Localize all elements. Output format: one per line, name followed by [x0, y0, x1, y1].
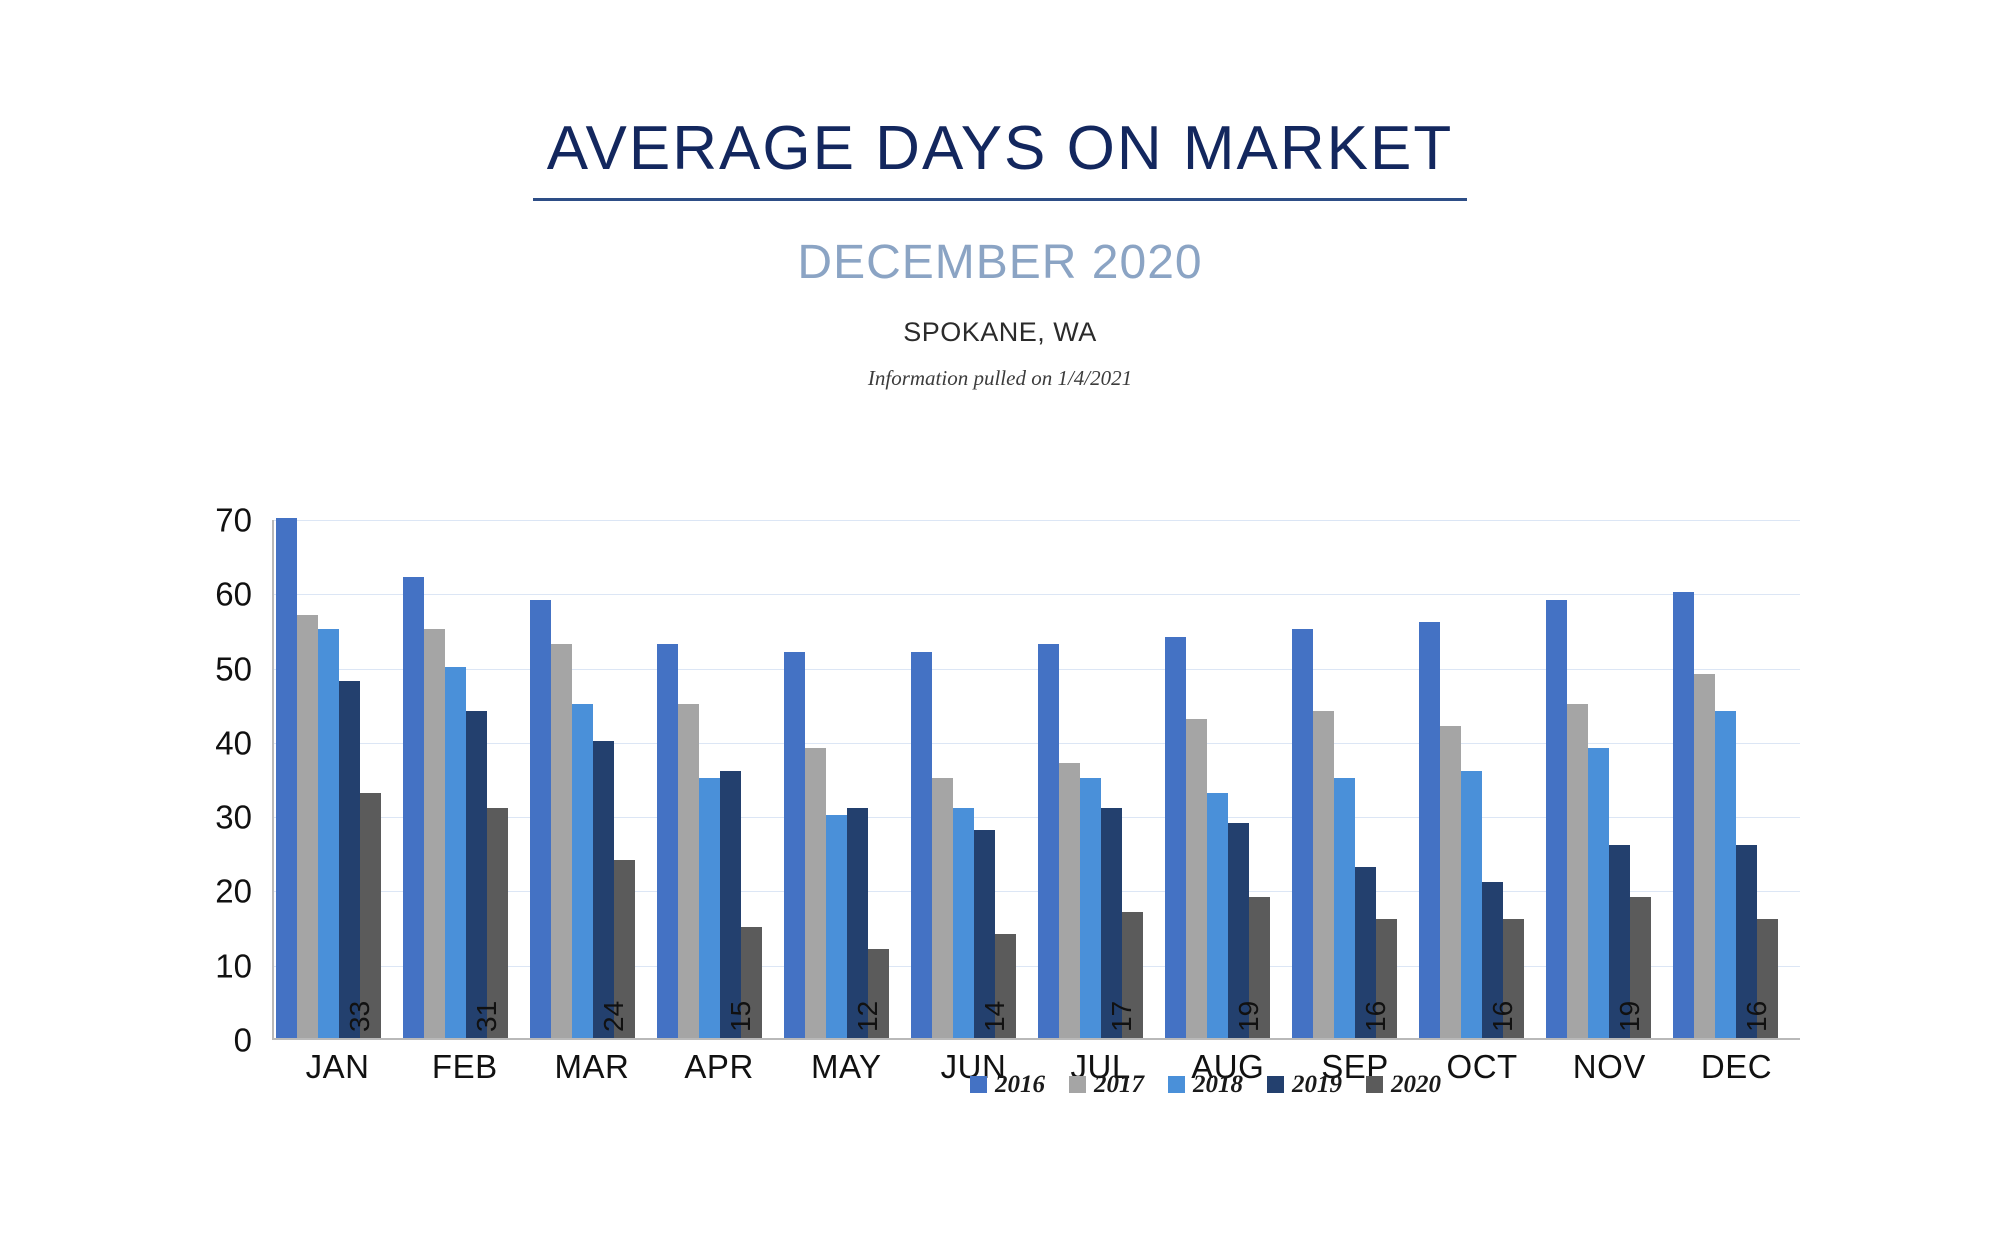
y-axis: 010203040506070	[200, 520, 252, 1040]
bar-value-label: 14	[981, 1001, 1009, 1032]
bar-2017[interactable]	[1694, 674, 1715, 1038]
x-axis-tick-label: DEC	[1673, 1048, 1800, 1086]
bar-value-label: 19	[1235, 1001, 1263, 1032]
bar-value-label: 15	[727, 1001, 755, 1032]
y-axis-tick-label: 30	[215, 801, 252, 834]
legend-swatch-icon	[1267, 1076, 1284, 1093]
bar-2018[interactable]	[1334, 778, 1355, 1038]
bar-2016[interactable]	[530, 600, 551, 1038]
bar-2018[interactable]	[572, 704, 593, 1038]
y-axis-tick-label: 20	[215, 875, 252, 908]
bar-2016[interactable]	[276, 518, 297, 1038]
bar-2020[interactable]: 24	[614, 860, 635, 1038]
bar-2018[interactable]	[699, 778, 720, 1038]
bar-group: 14	[911, 520, 1038, 1038]
y-axis-tick-label: 10	[215, 949, 252, 982]
bar-2017[interactable]	[678, 704, 699, 1038]
bar-2018[interactable]	[1715, 711, 1736, 1038]
bar-value-label: 12	[854, 1001, 882, 1032]
y-axis-tick-label: 0	[234, 1024, 252, 1057]
legend-swatch-icon	[1168, 1076, 1185, 1093]
bar-value-label: 17	[1108, 1001, 1136, 1032]
x-axis-tick-label: APR	[656, 1048, 783, 1086]
location-label: SPOKANE, WA	[0, 319, 2000, 346]
bar-2016[interactable]	[911, 652, 932, 1038]
page-header: AVERAGE DAYS ON MARKET DECEMBER 2020 SPO…	[0, 0, 2000, 389]
bar-2016[interactable]	[1419, 622, 1440, 1038]
legend-item-2020[interactable]: 2020	[1366, 1072, 1441, 1097]
bar-2016[interactable]	[1673, 592, 1694, 1038]
bar-value-label: 16	[1362, 1001, 1390, 1032]
bar-2016[interactable]	[1165, 637, 1186, 1038]
bar-value-label: 19	[1616, 1001, 1644, 1032]
bar-2017[interactable]	[805, 748, 826, 1038]
x-axis-tick-label: FEB	[401, 1048, 528, 1086]
legend-label: 2018	[1193, 1072, 1243, 1097]
bar-2017[interactable]	[932, 778, 953, 1038]
bar-group: 19	[1165, 520, 1292, 1038]
bar-2016[interactable]	[784, 652, 805, 1038]
bar-2017[interactable]	[1440, 726, 1461, 1038]
bar-2019[interactable]	[720, 771, 741, 1038]
bar-groups: 333124151214171916161916	[276, 520, 1800, 1038]
bar-2017[interactable]	[424, 629, 445, 1038]
page-subtitle: DECEMBER 2020	[0, 239, 2000, 287]
bar-value-label: 16	[1489, 1001, 1517, 1032]
chart-legend: 20162017201820192020	[970, 1072, 1441, 1097]
bar-2017[interactable]	[1059, 763, 1080, 1038]
bar-2017[interactable]	[1313, 711, 1334, 1038]
bar-2016[interactable]	[657, 644, 678, 1038]
bar-2018[interactable]	[318, 629, 339, 1038]
bar-value-label: 33	[346, 1001, 374, 1032]
legend-label: 2017	[1094, 1072, 1144, 1097]
bar-2020[interactable]: 17	[1122, 912, 1143, 1038]
bar-2018[interactable]	[1588, 748, 1609, 1038]
bar-2017[interactable]	[551, 644, 572, 1038]
bar-value-label: 16	[1743, 1001, 1771, 1032]
data-pulled-note: Information pulled on 1/4/2021	[0, 368, 2000, 389]
bar-2020[interactable]: 16	[1757, 919, 1778, 1038]
bar-2020[interactable]: 15	[741, 927, 762, 1038]
bar-2018[interactable]	[445, 667, 466, 1038]
bar-group: 16	[1292, 520, 1419, 1038]
bar-group: 33	[276, 520, 403, 1038]
bar-value-label: 24	[600, 1001, 628, 1032]
bar-2020[interactable]: 31	[487, 808, 508, 1038]
bar-2017[interactable]	[297, 615, 318, 1038]
page-title: AVERAGE DAYS ON MARKET	[547, 118, 1453, 180]
bar-group: 24	[530, 520, 657, 1038]
bar-value-label: 31	[473, 1001, 501, 1032]
bar-chart: 010203040506070 333124151214171916161916…	[200, 520, 1800, 1080]
bar-2019[interactable]	[593, 741, 614, 1038]
bar-2016[interactable]	[1292, 629, 1313, 1038]
legend-item-2017[interactable]: 2017	[1069, 1072, 1144, 1097]
legend-label: 2016	[995, 1072, 1045, 1097]
bar-group: 16	[1673, 520, 1800, 1038]
x-axis-tick-label: NOV	[1546, 1048, 1673, 1086]
bar-2020[interactable]: 16	[1503, 919, 1524, 1038]
bar-2016[interactable]	[1546, 600, 1567, 1038]
legend-label: 2019	[1292, 1072, 1342, 1097]
bar-group: 31	[403, 520, 530, 1038]
legend-swatch-icon	[970, 1076, 987, 1093]
y-axis-tick-label: 40	[215, 726, 252, 759]
bar-2018[interactable]	[953, 808, 974, 1038]
y-axis-tick-label: 60	[215, 578, 252, 611]
bar-2016[interactable]	[1038, 644, 1059, 1038]
bar-2020[interactable]: 33	[360, 793, 381, 1038]
legend-item-2018[interactable]: 2018	[1168, 1072, 1243, 1097]
bar-group: 15	[657, 520, 784, 1038]
legend-item-2016[interactable]: 2016	[970, 1072, 1045, 1097]
x-axis-tick-label: MAR	[528, 1048, 655, 1086]
bar-2016[interactable]	[403, 577, 424, 1038]
legend-label: 2020	[1391, 1072, 1441, 1097]
bar-2017[interactable]	[1567, 704, 1588, 1038]
bar-2020[interactable]: 19	[1249, 897, 1270, 1038]
page-title-wrap: AVERAGE DAYS ON MARKET	[533, 118, 1467, 201]
bar-2019[interactable]	[339, 681, 360, 1038]
y-axis-tick-label: 50	[215, 652, 252, 685]
bar-group: 19	[1546, 520, 1673, 1038]
legend-swatch-icon	[1069, 1076, 1086, 1093]
x-axis-tick-label: JAN	[274, 1048, 401, 1086]
x-axis-tick-label: MAY	[783, 1048, 910, 1086]
bar-2020[interactable]: 19	[1630, 897, 1651, 1038]
bar-2017[interactable]	[1186, 719, 1207, 1038]
legend-item-2019[interactable]: 2019	[1267, 1072, 1342, 1097]
bar-2020[interactable]: 16	[1376, 919, 1397, 1038]
bar-2020[interactable]: 12	[868, 949, 889, 1038]
bar-2018[interactable]	[826, 815, 847, 1038]
bar-group: 12	[784, 520, 911, 1038]
bar-group: 16	[1419, 520, 1546, 1038]
legend-swatch-icon	[1366, 1076, 1383, 1093]
bar-2019[interactable]	[466, 711, 487, 1038]
bar-group: 17	[1038, 520, 1165, 1038]
bar-2018[interactable]	[1080, 778, 1101, 1038]
bar-2018[interactable]	[1461, 771, 1482, 1038]
y-axis-tick-label: 70	[215, 504, 252, 537]
bar-2020[interactable]: 14	[995, 934, 1016, 1038]
bar-2018[interactable]	[1207, 793, 1228, 1038]
plot-area: 333124151214171916161916	[272, 520, 1800, 1040]
